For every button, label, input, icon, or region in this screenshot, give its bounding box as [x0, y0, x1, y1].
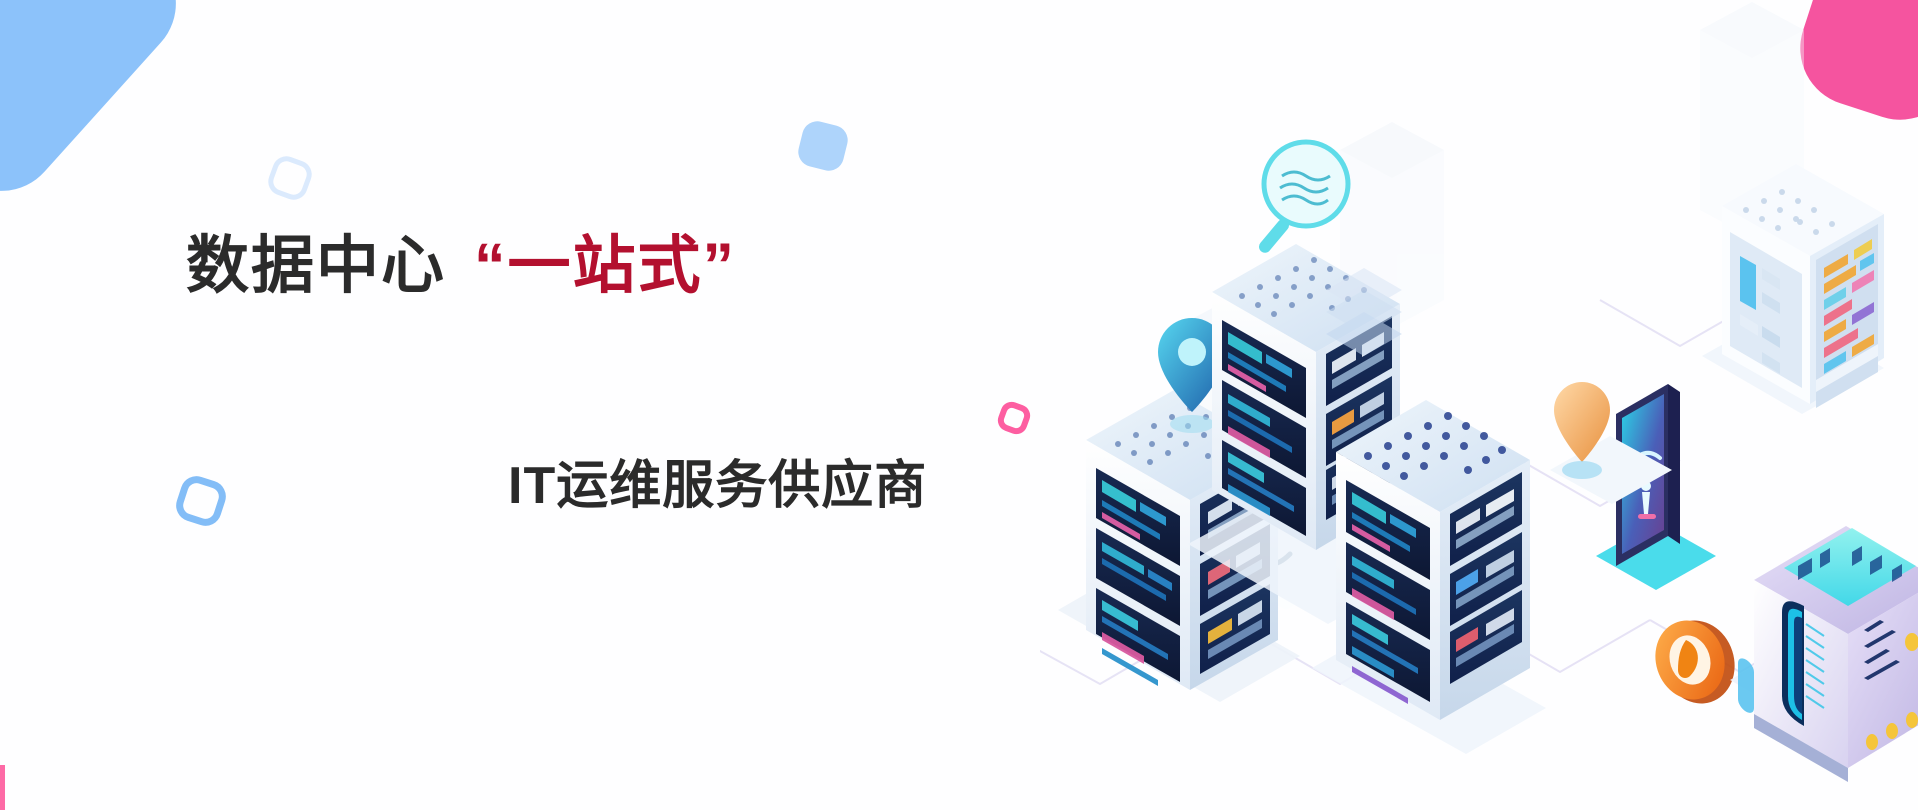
headline-line-1: 数据中心“一站式” [186, 235, 736, 298]
pink-outline-icon [995, 399, 1033, 437]
headline-block: 数据中心“一站式” IT运维服务供应商 [0, 0, 1000, 810]
headline-line-1-red: “一站式” [474, 231, 736, 301]
isometric-data-center-illustration [1040, 0, 1918, 810]
server-rack-right [1312, 400, 1546, 754]
headline-line-2: IT运维服务供应商 [508, 460, 927, 512]
search-magnifier-icon [1257, 142, 1348, 255]
cooling-tower-unit [1730, 526, 1918, 782]
headline-line-1-dark: 数据中心 [186, 231, 446, 301]
banner-root: 数据中心“一站式” IT运维服务供应商 [0, 0, 1918, 810]
